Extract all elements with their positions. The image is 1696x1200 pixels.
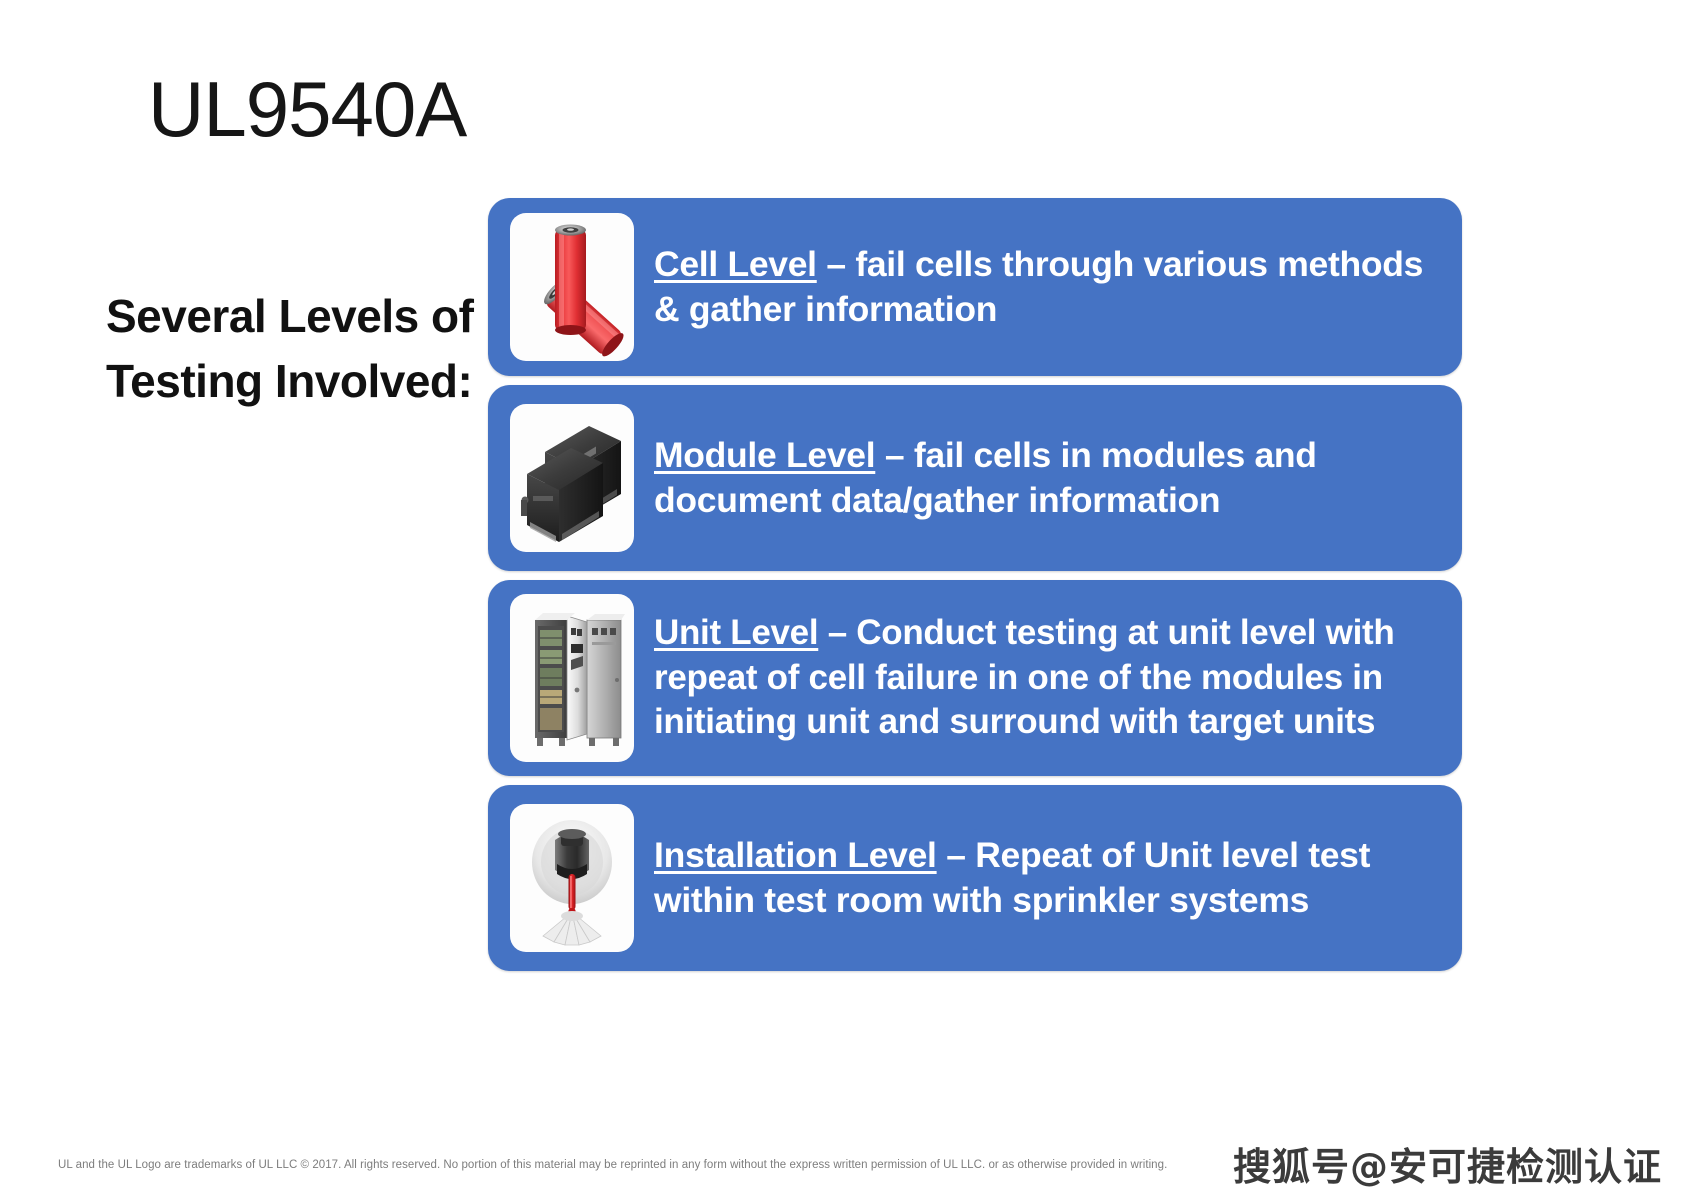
electrical-cabinet-icon bbox=[513, 598, 631, 758]
level-dash-unit: – bbox=[818, 613, 856, 652]
footer-legal-text: UL and the UL Logo are trademarks of UL … bbox=[58, 1158, 1178, 1173]
icon-frame-module bbox=[510, 404, 634, 552]
slide-canvas: UL9540A Several Levels of Testing Involv… bbox=[0, 0, 1696, 1200]
section-heading: Several Levels of Testing Involved: bbox=[106, 284, 476, 415]
level-lead-module: Module Level bbox=[654, 435, 875, 475]
level-dash-cell: – bbox=[817, 244, 856, 284]
level-card-install[interactable]: Installation Level – Repeat of Unit leve… bbox=[488, 785, 1462, 971]
level-lead-unit: Unit Level bbox=[654, 613, 818, 652]
watermark-text: 搜狐号@安可捷检测认证 bbox=[1233, 1136, 1662, 1191]
level-lead-cell: Cell Level bbox=[654, 244, 817, 284]
icon-frame-install bbox=[510, 804, 634, 952]
fire-sprinkler-icon bbox=[513, 808, 631, 948]
level-card-text-install: Installation Level – Repeat of Unit leve… bbox=[654, 833, 1444, 924]
level-dash-install: – bbox=[937, 835, 976, 875]
level-dash-module: – bbox=[875, 435, 914, 475]
levels-list: Cell Level – fail cells through various … bbox=[488, 198, 1462, 980]
icon-frame-cell bbox=[510, 213, 634, 361]
level-card-text-module: Module Level – fail cells in modules and… bbox=[654, 433, 1444, 524]
battery-module-icon bbox=[513, 408, 631, 548]
level-lead-install: Installation Level bbox=[654, 835, 937, 875]
battery-cell-icon bbox=[513, 216, 631, 358]
level-card-cell[interactable]: Cell Level – fail cells through various … bbox=[488, 198, 1462, 376]
level-card-unit[interactable]: Unit Level – Conduct testing at unit lev… bbox=[488, 580, 1462, 776]
level-card-module[interactable]: Module Level – fail cells in modules and… bbox=[488, 385, 1462, 571]
icon-frame-unit bbox=[510, 594, 634, 762]
level-card-text-cell: Cell Level – fail cells through various … bbox=[654, 242, 1444, 333]
level-card-text-unit: Unit Level – Conduct testing at unit lev… bbox=[654, 611, 1444, 745]
page-title: UL9540A bbox=[148, 70, 466, 148]
